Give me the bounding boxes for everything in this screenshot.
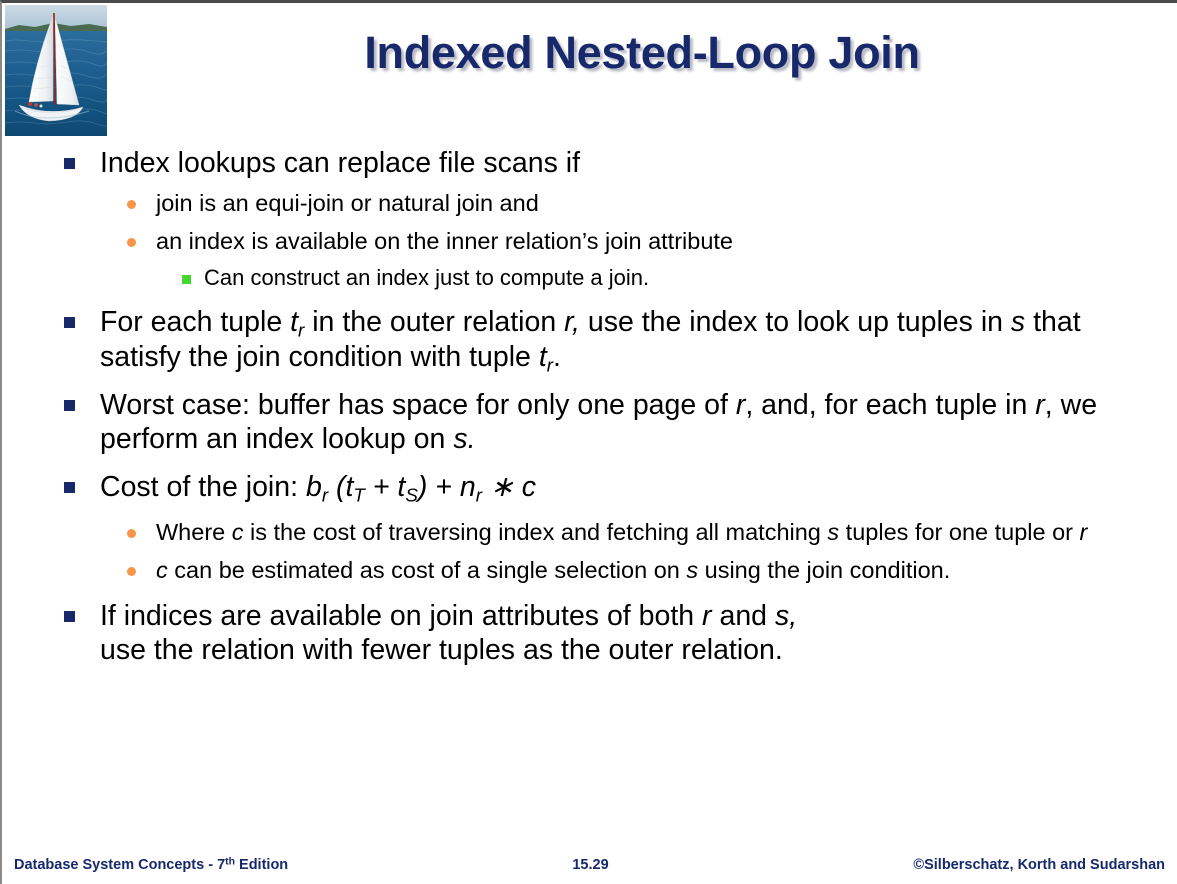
sailboat-photo: [5, 5, 107, 136]
bullet-text: Worst case: buffer has space for only on…: [100, 388, 1149, 456]
bullet-text: Where c is the cost of traversing index …: [156, 518, 1149, 547]
bullet-text: Can construct an index just to compute a…: [204, 265, 1149, 292]
page-title: Indexed Nested-Loop Join: [112, 27, 1172, 79]
round-bullet-icon: [127, 567, 136, 576]
slide: Indexed Nested-Loop Join Index lookups c…: [0, 0, 1177, 884]
bullet-text: join is an equi-join or natural join and: [156, 189, 1149, 218]
bullet-construct-index: Can construct an index just to compute a…: [182, 265, 1149, 292]
bullet-text: Index lookups can replace file scans if: [100, 146, 1149, 180]
square-bullet-icon: [64, 611, 75, 622]
bullet-text: c can be estimated as cost of a single s…: [156, 556, 1149, 585]
footer-copyright: ©Silberschatz, Korth and Sudarshan: [913, 857, 1165, 873]
cost-formula: Cost of the join: br (tT + tS) + nr ∗ c: [100, 470, 1149, 504]
bullet-where-c: Where c is the cost of traversing index …: [127, 518, 1149, 547]
bullet-text: an index is available on the inner relat…: [156, 227, 1149, 256]
round-bullet-icon: [127, 238, 136, 247]
square-bullet-icon: [64, 400, 75, 411]
square-bullet-icon: [64, 158, 75, 169]
round-bullet-icon: [127, 200, 136, 209]
slide-body: Index lookups can replace file scans if …: [64, 146, 1149, 667]
bullet-equi-join: join is an equi-join or natural join and: [127, 189, 1149, 218]
bullet-text: For each tuple tr in the outer relation …: [100, 305, 1149, 373]
square-bullet-icon: [64, 317, 75, 328]
bullet-text: If indices are available on join attribu…: [100, 599, 1149, 667]
bullet-for-each-tuple: For each tuple tr in the outer relation …: [64, 305, 1149, 373]
square-bullet-icon: [182, 275, 191, 284]
bullet-index-lookups: Index lookups can replace file scans if: [64, 146, 1149, 180]
bullet-cost-of-join: Cost of the join: br (tT + tS) + nr ∗ c: [64, 470, 1149, 504]
bullet-index-available: an index is available on the inner relat…: [127, 227, 1149, 256]
footer: Database System Concepts - 7th Edition 1…: [2, 854, 1177, 880]
round-bullet-icon: [127, 529, 136, 538]
square-bullet-icon: [64, 482, 75, 493]
bullet-c-estimated: c can be estimated as cost of a single s…: [127, 556, 1149, 585]
bullet-worst-case: Worst case: buffer has space for only on…: [64, 388, 1149, 456]
bullet-if-indices: If indices are available on join attribu…: [64, 599, 1149, 667]
